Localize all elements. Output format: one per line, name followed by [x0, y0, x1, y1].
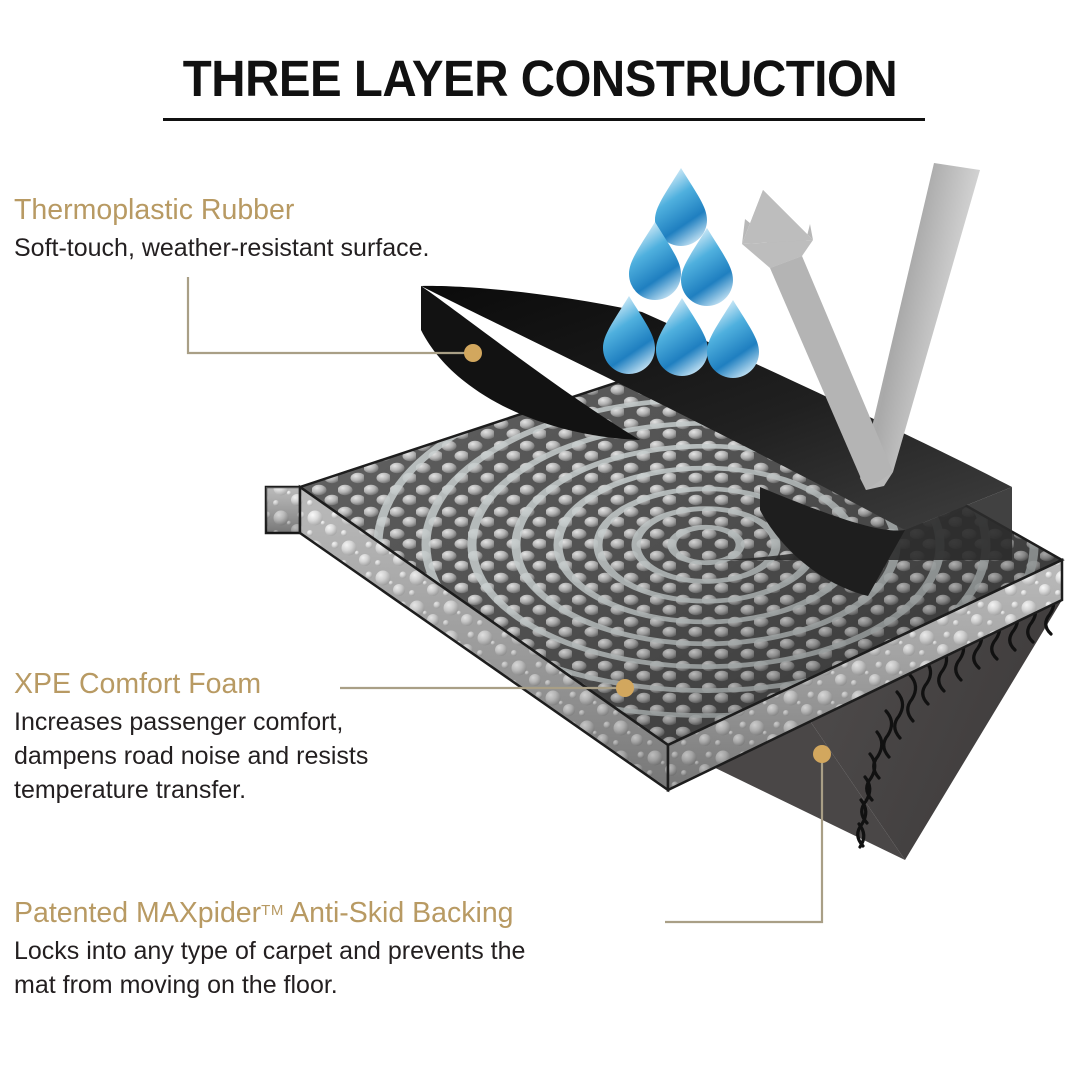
title-block: THREE LAYER CONSTRUCTION — [0, 52, 1080, 106]
bounce-arrow-icon — [742, 150, 980, 490]
water-droplet — [655, 168, 707, 246]
leader-dot-foam — [616, 679, 634, 697]
callout-body-rubber: Soft-touch, weather-resistant surface. — [14, 231, 429, 265]
callout-xpe-comfort-foam: XPE Comfort Foam Increases passenger com… — [14, 668, 368, 807]
leader-line-rubber — [188, 277, 473, 353]
callout-body-foam: Increases passenger comfort, dampens roa… — [14, 705, 368, 807]
maxpider-anti-skid-backing-layer — [668, 355, 1062, 860]
water-droplet — [629, 222, 681, 300]
water-droplets-group — [603, 168, 759, 378]
leader-line-backing — [665, 754, 822, 922]
water-droplet — [681, 228, 733, 306]
callout-thermoplastic-rubber: Thermoplastic Rubber Soft-touch, weather… — [14, 194, 429, 265]
leader-dot-rubber — [464, 344, 482, 362]
title-underline — [163, 118, 925, 121]
callout-heading-foam: XPE Comfort Foam — [14, 668, 368, 702]
thermoplastic-rubber-layer — [420, 286, 1012, 596]
water-droplet — [656, 298, 708, 376]
leader-dots — [464, 344, 831, 763]
callout-maxpider-anti-skid-backing: Patented MAXpiderTM Anti-Skid Backing Lo… — [14, 897, 525, 1002]
callout-heading-backing-post: Anti-Skid Backing — [284, 897, 514, 929]
leader-lines — [188, 277, 822, 922]
trademark-symbol: TM — [261, 902, 284, 919]
callout-heading-rubber: Thermoplastic Rubber — [14, 194, 429, 228]
callout-body-backing: Locks into any type of carpet and preven… — [14, 934, 525, 1002]
page-title: THREE LAYER CONSTRUCTION — [38, 52, 1042, 106]
callout-heading-backing: Patented MAXpiderTM Anti-Skid Backing — [14, 897, 525, 931]
leader-dot-backing — [813, 745, 831, 763]
callout-heading-backing-pre: Patented MAXpider — [14, 897, 261, 929]
water-droplet — [603, 296, 655, 374]
water-droplet — [707, 300, 759, 378]
xpe-comfort-foam-layer — [260, 316, 1080, 790]
